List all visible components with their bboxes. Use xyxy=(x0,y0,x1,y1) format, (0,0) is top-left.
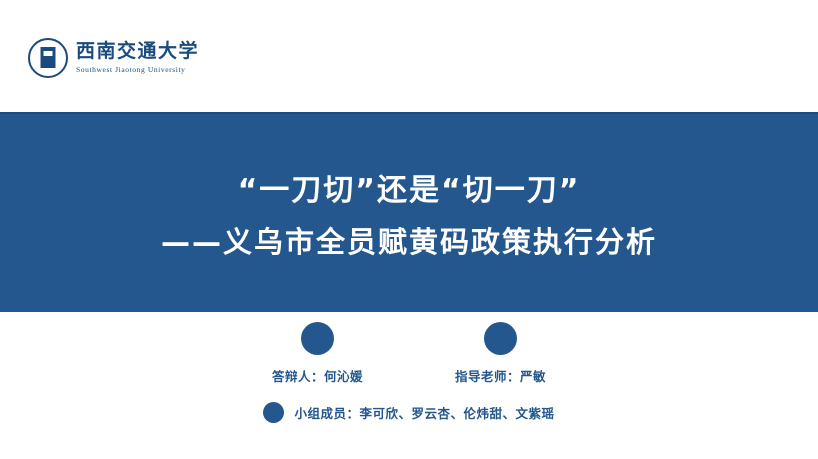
team-credit: 小组成员：李可欣、罗云杏、伦炜甜、文紫瑶 xyxy=(263,402,554,423)
title-block: “一刀切”还是“切一刀” ——义乌市全员赋黄码政策执行分析 xyxy=(0,114,818,312)
university-seal-icon xyxy=(28,38,68,78)
slide-header: 西南交通大学 Southwest Jiaotong University xyxy=(0,0,818,114)
team-label: 小组成员：李可欣、罗云杏、伦炜甜、文紫瑶 xyxy=(294,403,554,422)
bullet-dot-icon xyxy=(301,322,334,355)
bullet-dot-icon xyxy=(263,402,284,423)
advisor-credit: 指导老师：严敏 xyxy=(455,322,546,385)
presenter-label: 答辩人：何沁媛 xyxy=(272,366,363,385)
presenter-credit: 答辩人：何沁媛 xyxy=(272,322,363,385)
title-line-1: “一刀切”还是“切一刀” xyxy=(238,165,581,209)
title-line-2: ——义乌市全员赋黄码政策执行分析 xyxy=(161,219,657,261)
university-logo: 西南交通大学 Southwest Jiaotong University xyxy=(28,38,199,78)
university-logo-text: 西南交通大学 Southwest Jiaotong University xyxy=(76,42,199,74)
university-name-en: Southwest Jiaotong University xyxy=(76,66,199,74)
title-band: “一刀切”还是“切一刀” ——义乌市全员赋黄码政策执行分析 xyxy=(0,114,818,312)
credit-row-primary: 答辩人：何沁媛 指导老师：严敏 xyxy=(0,322,818,385)
university-name-cn: 西南交通大学 xyxy=(76,42,199,61)
presentation-slide: 西南交通大学 Southwest Jiaotong University “一刀… xyxy=(0,0,818,459)
bullet-dot-icon xyxy=(484,322,517,355)
advisor-label: 指导老师：严敏 xyxy=(455,366,546,385)
credit-row-team: 小组成员：李可欣、罗云杏、伦炜甜、文紫瑶 xyxy=(0,402,818,423)
